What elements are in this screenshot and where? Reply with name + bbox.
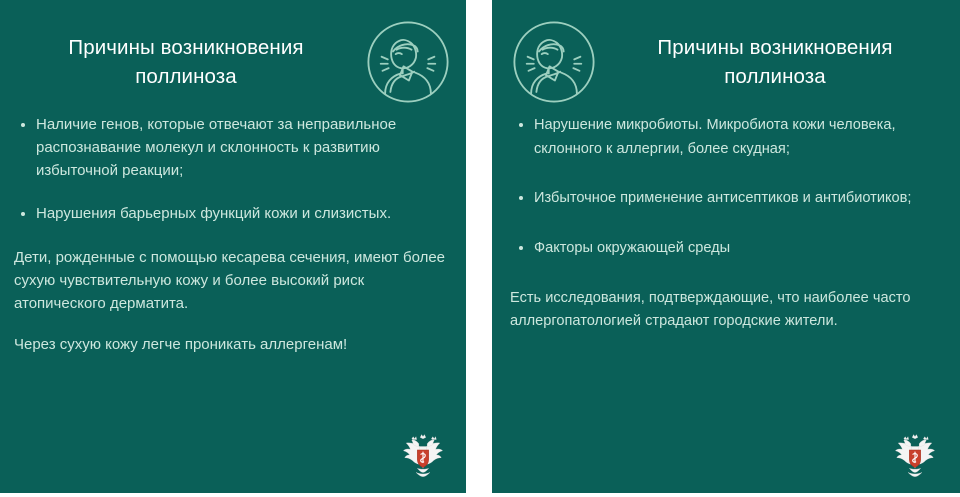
paragraph: Есть исследования, подтверждающие, что н… [510, 287, 946, 334]
slide-right-body: Нарушение микробиоты. Микробиота кожи че… [510, 114, 946, 334]
rospotrebnadzor-emblem [894, 433, 936, 481]
sneezing-person-icon [364, 18, 452, 106]
slide-right: Причины возникновения поллиноза Нарушени… [492, 0, 960, 493]
paragraph-group-left: Дети, рожденные с помощью кесарева сечен… [14, 247, 452, 356]
list-item: Факторы окружающей среды [510, 237, 946, 261]
page-title-right: Причины возникновения поллиноза [604, 33, 946, 91]
slide-divider [466, 0, 492, 497]
slide-left-header: Причины возникновения поллиноза [14, 16, 452, 108]
slide-left-body: Наличие генов, которые отвечают за непра… [14, 114, 452, 356]
slide-deck: Причины возникновения поллиноза [0, 0, 960, 497]
list-item: Нарушение микробиоты. Микробиота кожи че… [510, 114, 946, 161]
list-item: Избыточное применение антисептиков и ант… [510, 187, 946, 211]
paragraph: Через сухую кожу легче проникать аллерге… [14, 334, 452, 357]
paragraph-group-right: Есть исследования, подтверждающие, что н… [510, 287, 946, 334]
slide-left: Причины возникновения поллиноза [0, 0, 466, 493]
list-item: Нарушения барьерных функций кожи и слизи… [14, 203, 452, 226]
bullet-list-right: Нарушение микробиоты. Микробиота кожи че… [510, 114, 946, 261]
list-item: Наличие генов, которые отвечают за непра… [14, 114, 452, 182]
paragraph: Дети, рожденные с помощью кесарева сечен… [14, 247, 452, 315]
sneezing-person-icon [510, 18, 598, 106]
slide-right-header: Причины возникновения поллиноза [510, 16, 946, 108]
rospotrebnadzor-emblem [402, 433, 444, 481]
bullet-list-left: Наличие генов, которые отвечают за непра… [14, 114, 452, 226]
page-title-left: Причины возникновения поллиноза [14, 33, 358, 91]
